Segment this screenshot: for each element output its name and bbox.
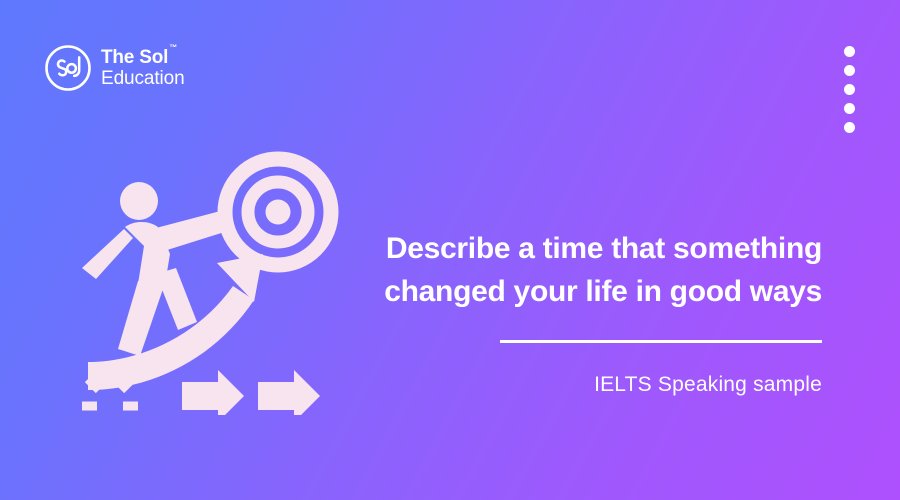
bullseye-target-icon (225, 159, 331, 265)
dot (844, 65, 855, 76)
trademark-symbol: ™ (169, 43, 177, 52)
brand-name-primary: The Sol™ (101, 48, 185, 67)
brand-logo[interactable]: The Sol™ Education (44, 44, 185, 92)
headline-block: Describe a time that something changed y… (352, 228, 822, 397)
dot (844, 103, 855, 114)
dot (844, 46, 855, 57)
sol-circle-monogram-icon (44, 44, 92, 92)
goal-achievement-illustration (78, 150, 348, 415)
dot (844, 122, 855, 133)
right-arrow-icon (258, 370, 320, 415)
brand-name-text: The Sol (101, 47, 168, 68)
brand-name-secondary: Education (101, 69, 185, 88)
vertical-dots-decoration-icon (844, 46, 855, 133)
promo-banner: The Sol™ Education (0, 0, 900, 500)
right-arrow-icon (182, 370, 244, 415)
headline-line-1: Describe a time that something (386, 228, 822, 271)
subtitle: IELTS Speaking sample (594, 373, 822, 397)
headline-line-2: changed your life in good ways (384, 271, 822, 314)
brand-wordmark: The Sol™ Education (101, 48, 185, 88)
divider-rule (500, 340, 822, 343)
dot (844, 84, 855, 95)
